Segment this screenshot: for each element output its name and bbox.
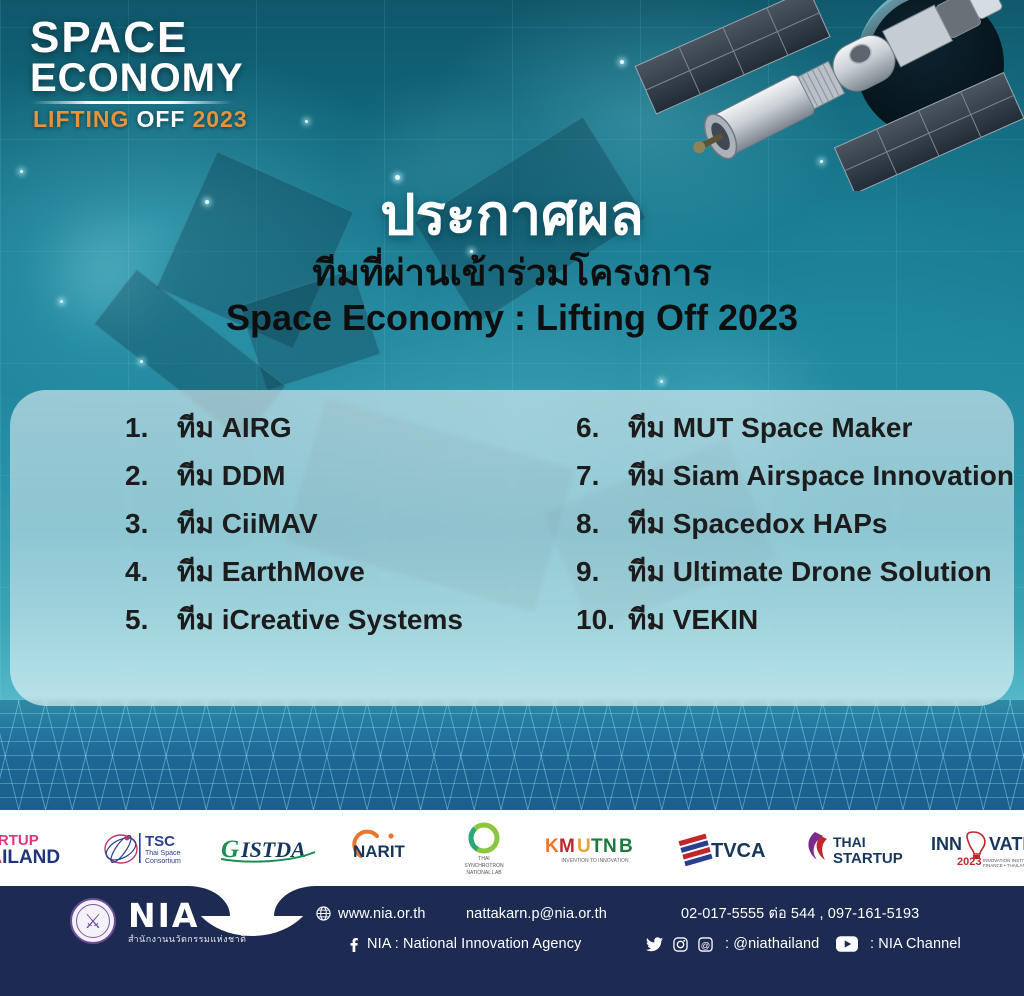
list-item-label: ทีม iCreative Systems: [177, 606, 463, 634]
svg-text:Thai Space: Thai Space: [145, 850, 181, 857]
list-item-label: ทีม AIRG: [177, 414, 292, 442]
list-item-number: 4.: [125, 558, 177, 586]
teams-panel: 1.ทีม AIRG 2.ทีม DDM 3.ทีม CiiMAV 4.ทีม …: [10, 390, 1014, 706]
ground-plane: [0, 700, 1024, 812]
brand-logo: SPACE ECONOMY LIFTING OFF 2023: [30, 18, 245, 133]
star: [660, 380, 663, 383]
svg-text:K: K: [545, 836, 559, 857]
list-item: 2.ทีม DDM: [125, 462, 562, 490]
instagram-icon: [673, 937, 688, 952]
email-label: nattakarn.p@nia.or.th: [466, 906, 607, 922]
brand-tagline-off: OFF: [136, 106, 185, 133]
list-item-label: ทีม DDM: [177, 462, 285, 490]
svg-text:N: N: [603, 836, 617, 857]
list-item: 9.ทีม Ultimate Drone Solution: [576, 558, 1014, 586]
nia-thai-subtitle: สำนักงานนวัตกรรมแห่งชาติ: [128, 935, 246, 944]
svg-text:THAILAND: THAILAND: [0, 847, 60, 868]
partner-logo-innovation-2023: INN VATI N 2023 INNOVATION INSTITUTE for…: [929, 820, 1024, 876]
ground-grid: [0, 700, 1024, 812]
svg-text:@: @: [701, 940, 711, 950]
facebook-label: NIA : National Innovation Agency: [367, 936, 581, 952]
footer-contact-block: www.nia.or.th nattakarn.p@nia.or.th 02-0…: [316, 902, 1016, 952]
svg-text:TSC: TSC: [145, 833, 175, 850]
page-subtitle-2: Space Economy : Lifting Off 2023: [0, 295, 1024, 340]
website-item[interactable]: www.nia.or.th: [316, 906, 466, 922]
website-label: www.nia.or.th: [338, 906, 426, 922]
brand-tagline: LIFTING OFF 2023: [30, 106, 245, 133]
footer-bar: ⚔ NIA สำนักงานนวัตกรรมแห่งชาติ: [0, 886, 1024, 996]
facebook-item[interactable]: NIA : National Innovation Agency: [316, 936, 646, 952]
svg-text:U: U: [577, 836, 591, 857]
list-item-number: 6.: [576, 414, 628, 442]
twitter-icon: [646, 937, 663, 952]
brand-line-space: SPACE: [30, 18, 245, 58]
satellite-illustration: [600, 0, 1024, 191]
footer-contact-row-2: NIA : National Innovation Agency: [316, 936, 1016, 952]
list-item: 4.ทีม EarthMove: [125, 558, 562, 586]
phone-label: 02-017-5555 ต่อ 544 , 097-161-5193: [681, 902, 919, 925]
svg-text:VATI: VATI: [989, 834, 1024, 854]
nia-logo: ⚔ NIA สำนักงานนวัตกรรมแห่งชาติ: [70, 898, 246, 944]
star: [20, 170, 23, 173]
list-item-number: 8.: [576, 510, 628, 538]
brand-tagline-year: 2023: [192, 106, 247, 133]
list-item: 1.ทีม AIRG: [125, 414, 562, 442]
youtube-label: : NIA Channel: [870, 936, 961, 952]
list-item-label: ทีม MUT Space Maker: [628, 414, 912, 442]
svg-text:FINANCE • THAILAND: FINANCE • THAILAND: [983, 863, 1024, 868]
list-item-number: 10.: [576, 606, 628, 634]
svg-text:THAI: THAI: [833, 834, 866, 850]
partner-logo-tsc: TSC Thai Space Consortium: [101, 820, 193, 876]
list-item-number: 7.: [576, 462, 628, 490]
nia-wordmark-text: NIA: [128, 899, 246, 932]
list-item-label: ทีม Spacedox HAPs: [628, 510, 887, 538]
footer-contact-row-1: www.nia.or.th nattakarn.p@nia.or.th 02-0…: [316, 902, 1016, 925]
list-item-label: ทีม CiiMAV: [177, 510, 318, 538]
partner-logo-tvca: TVCA: [673, 820, 771, 876]
globe-icon: [316, 906, 331, 921]
teams-column-right: 6.ทีม MUT Space Maker 7.ทีม Siam Airspac…: [562, 414, 1014, 706]
svg-text:T: T: [591, 836, 603, 857]
partner-logo-startup-thailand: STARTUP THAILAND: [0, 820, 75, 876]
svg-text:INVENTION TO INNOVATION: INVENTION TO INNOVATION: [561, 858, 629, 864]
svg-text:M: M: [559, 836, 575, 857]
brand-divider: [32, 101, 232, 104]
page-subtitle-1: ทีมที่ผ่านเข้าร่วมโครงการ: [0, 250, 1024, 295]
teams-column-left: 1.ทีม AIRG 2.ทีม DDM 3.ทีม CiiMAV 4.ทีม …: [10, 414, 562, 706]
threads-icon: @: [698, 937, 713, 952]
list-item-number: 3.: [125, 510, 177, 538]
svg-text:B: B: [619, 836, 633, 857]
facebook-icon: [346, 937, 360, 952]
list-item-number: 2.: [125, 462, 177, 490]
email-item[interactable]: nattakarn.p@nia.or.th: [466, 906, 681, 922]
list-item: 5.ทีม iCreative Systems: [125, 606, 562, 634]
brand-line-economy: ECONOMY: [30, 58, 245, 98]
nia-seal-inner: ⚔: [76, 904, 110, 938]
list-item: 10.ทีม VEKIN: [576, 606, 1014, 634]
star: [140, 360, 143, 363]
poster-canvas: SPACE ECONOMY LIFTING OFF 2023 ประกาศผล …: [0, 0, 1024, 996]
svg-text:NATIONAL LAB: NATIONAL LAB: [466, 870, 502, 876]
headings-block: ประกาศผล ทีมที่ผ่านเข้าร่วมโครงการ Space…: [0, 185, 1024, 340]
list-item-number: 9.: [576, 558, 628, 586]
svg-text:INN: INN: [931, 834, 962, 854]
star: [305, 120, 308, 123]
list-item-label: ทีม Siam Airspace Innovation: [628, 462, 1014, 490]
phone-item: 02-017-5555 ต่อ 544 , 097-161-5193: [681, 902, 919, 925]
partner-logo-thai-startup: THAI STARTUP: [797, 820, 903, 876]
svg-text:STARTUP: STARTUP: [833, 850, 903, 867]
nia-wordmark: NIA สำนักงานนวัตกรรมแห่งชาติ: [128, 899, 246, 944]
svg-text:THAI: THAI: [478, 856, 489, 862]
partner-logo-kmutnb: K M U T N B INVENTION TO INNOVATION: [543, 820, 647, 876]
list-item: 8.ทีม Spacedox HAPs: [576, 510, 1014, 538]
list-item-number: 1.: [125, 414, 177, 442]
list-item-number: 5.: [125, 606, 177, 634]
youtube-icon: [836, 936, 858, 952]
youtube-item[interactable]: : NIA Channel: [836, 936, 961, 952]
star: [395, 175, 400, 180]
svg-text:2023: 2023: [957, 856, 981, 868]
list-item: 3.ทีม CiiMAV: [125, 510, 562, 538]
list-item: 6.ทีม MUT Space Maker: [576, 414, 1014, 442]
list-item: 7.ทีม Siam Airspace Innovation: [576, 462, 1014, 490]
partner-logo-thai-synchrotron: THAI SYNCHROTRON NATIONAL LAB: [451, 820, 517, 876]
partner-logo-bar: STARTUP THAILAND TSC Thai Space Consorti…: [0, 810, 1024, 886]
svg-text:NARIT: NARIT: [353, 842, 406, 861]
svg-text:SYNCHROTRON: SYNCHROTRON: [464, 863, 504, 869]
page-title: ประกาศผล: [0, 185, 1024, 244]
list-item-label: ทีม Ultimate Drone Solution: [628, 558, 992, 586]
brand-tagline-lifting: LIFTING: [33, 106, 129, 133]
list-item-label: ทีม VEKIN: [628, 606, 758, 634]
partner-logo-narit: NARIT: [347, 820, 425, 876]
list-item-label: ทีม EarthMove: [177, 558, 365, 586]
svg-text:TVCA: TVCA: [711, 840, 765, 862]
partner-logo-gistda: G ISTDA: [219, 820, 321, 876]
svg-text:Consortium: Consortium: [145, 858, 181, 865]
social-handle-label: : @niathailand: [725, 936, 819, 952]
social-handles-item[interactable]: @ : @niathailand: [646, 936, 836, 952]
nia-seal-emblem: ⚔: [70, 898, 116, 944]
